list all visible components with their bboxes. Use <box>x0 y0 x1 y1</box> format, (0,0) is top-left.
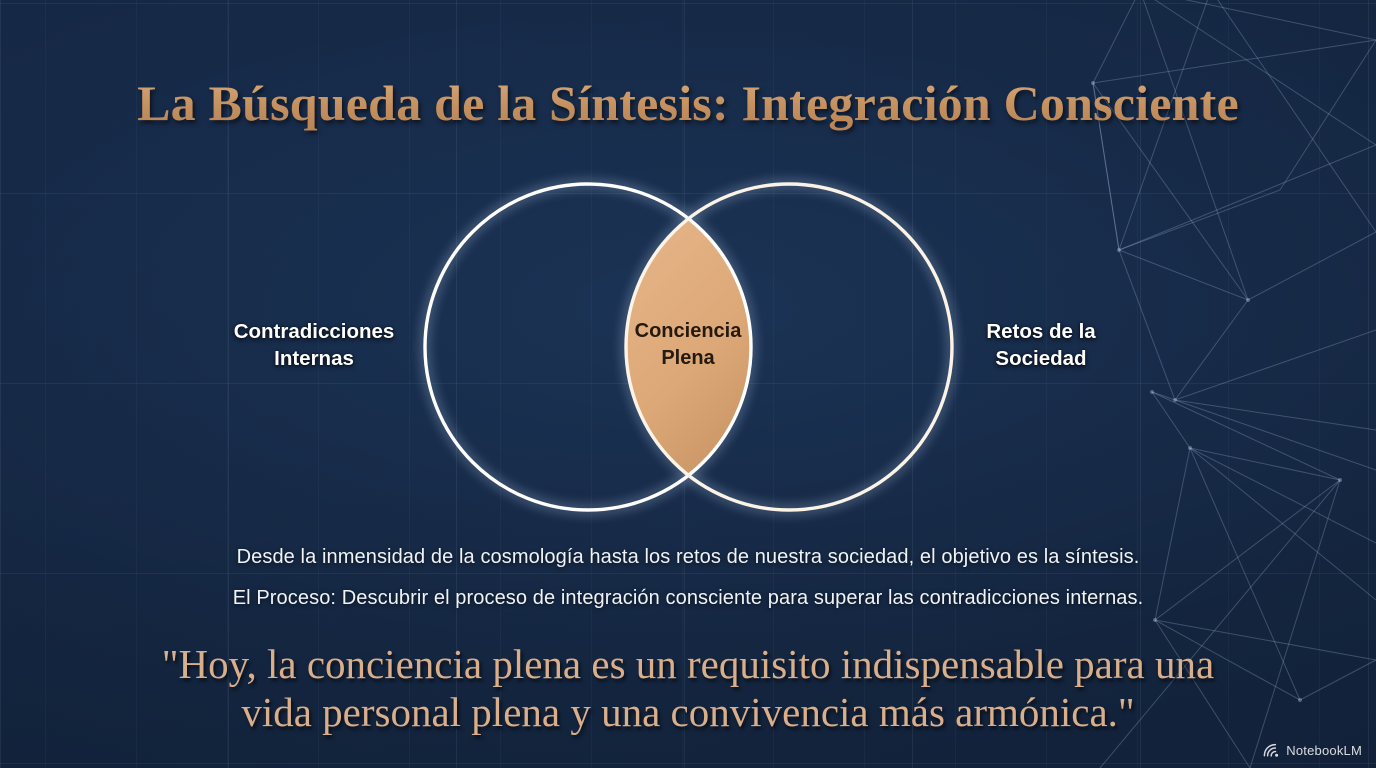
venn-label-left-line2: Internas <box>178 345 450 372</box>
venn-label-right-line2: Sociedad <box>930 345 1152 372</box>
pull-quote: "Hoy, la conciencia plena es un requisit… <box>0 640 1376 736</box>
venn-label-right: Retos de la Sociedad <box>930 318 1152 372</box>
notebooklm-watermark: NotebookLM <box>1263 743 1362 758</box>
venn-label-left: Contradicciones Internas <box>178 318 450 372</box>
body-text-line-1: Desde la inmensidad de la cosmología has… <box>0 546 1376 569</box>
venn-label-right-line1: Retos de la <box>930 318 1152 345</box>
venn-label-left-line1: Contradicciones <box>178 318 450 345</box>
slide-canvas: La Búsqueda de la Síntesis: Integración … <box>0 0 1376 768</box>
body-text-line-2: El Proceso: Descubrir el proceso de inte… <box>0 587 1376 610</box>
notebooklm-logo-icon <box>1263 743 1280 758</box>
venn-label-intersection: Conciencia Plena <box>612 318 764 372</box>
slide-title: La Búsqueda de la Síntesis: Integración … <box>0 74 1376 132</box>
notebooklm-watermark-label: NotebookLM <box>1286 743 1362 758</box>
venn-label-intersection-line2: Plena <box>612 345 764 372</box>
venn-label-intersection-line1: Conciencia <box>612 318 764 345</box>
pull-quote-line-2: vida personal plena y una convivencia má… <box>0 688 1376 736</box>
pull-quote-line-1: "Hoy, la conciencia plena es un requisit… <box>0 640 1376 688</box>
